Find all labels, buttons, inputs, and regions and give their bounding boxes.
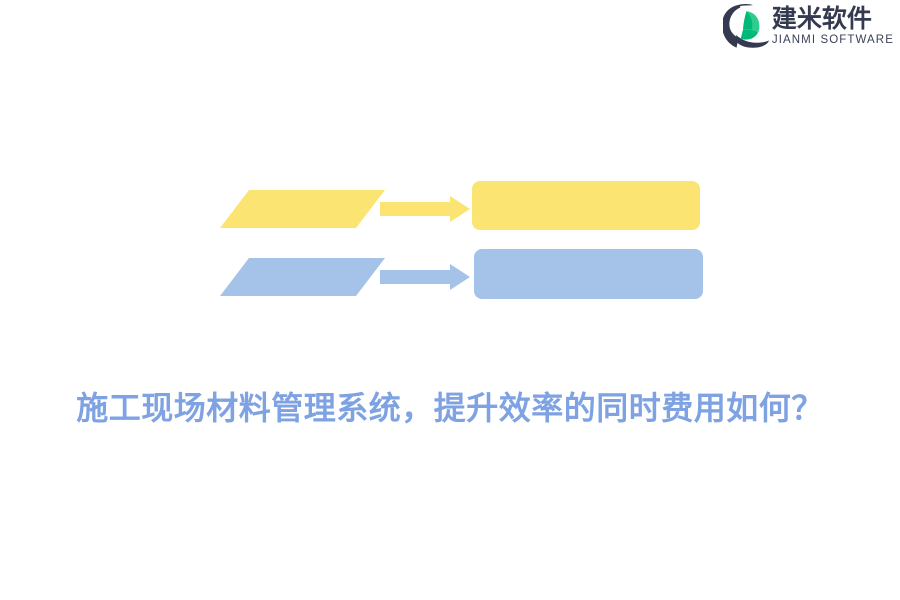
blue-target-rectangle <box>474 249 703 299</box>
brand-text-block: 建米软件 JIANMI SOFTWARE <box>772 6 894 47</box>
yellow-source-parallelogram <box>220 190 385 228</box>
jianmi-leaf-shield-logo-icon <box>723 4 769 48</box>
yellow-flow-arrow-icon <box>380 196 470 222</box>
process-flow-diagram <box>0 0 900 600</box>
blue-flow-arrow-icon <box>380 264 470 290</box>
brand-name-chinese: 建米软件 <box>772 6 872 32</box>
yellow-target-rectangle <box>472 181 700 230</box>
brand-name-english: JIANMI SOFTWARE <box>772 35 894 47</box>
blue-source-parallelogram <box>220 258 385 296</box>
brand-logo[interactable]: 建米软件 JIANMI SOFTWARE <box>695 0 900 52</box>
process-flow-svg <box>0 0 900 600</box>
page-title: 施工现场材料管理系统，提升效率的同时费用如何？ <box>0 387 900 430</box>
